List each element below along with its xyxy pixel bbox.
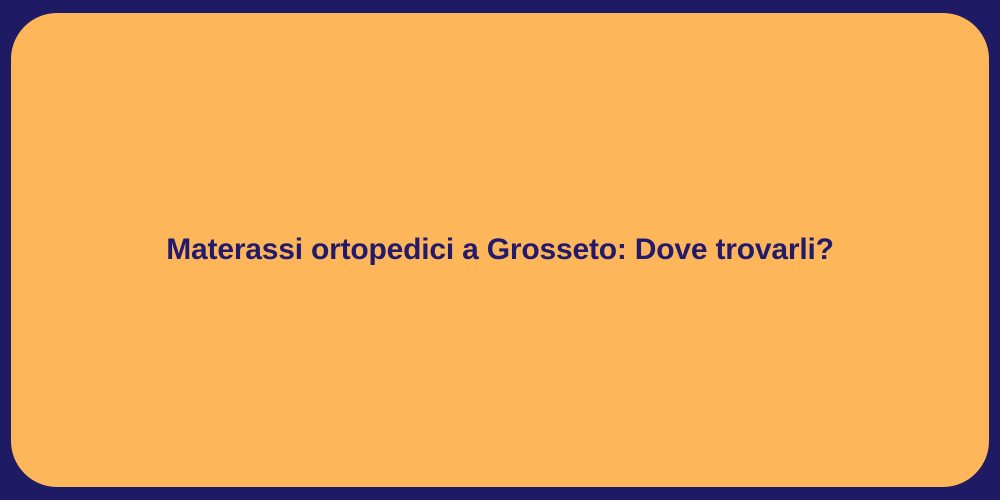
article-title-card: Materassi ortopedici a Grosseto: Dove tr… xyxy=(0,0,1000,500)
card-panel: Materassi ortopedici a Grosseto: Dove tr… xyxy=(11,13,989,487)
page-title: Materassi ortopedici a Grosseto: Dove tr… xyxy=(126,231,873,269)
